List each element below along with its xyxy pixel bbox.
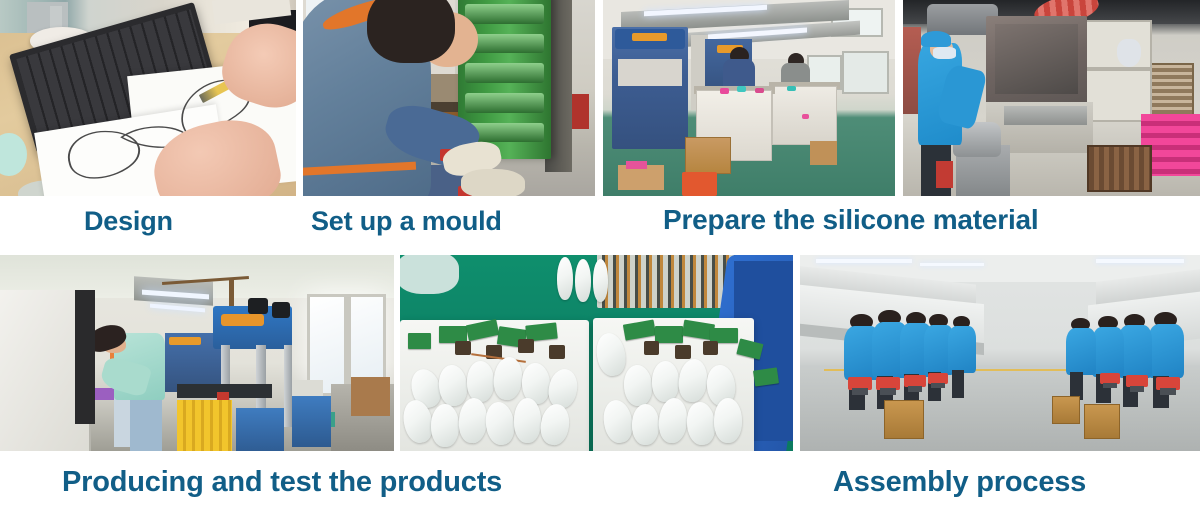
photo-mould[interactable]	[303, 0, 595, 196]
caption-design: Design	[84, 206, 173, 237]
photo-assembly-line[interactable]	[800, 255, 1200, 451]
process-gallery-page: Design Set up a mould Prepare the silico…	[0, 0, 1200, 524]
stool	[928, 373, 948, 385]
photo-producing[interactable]	[0, 255, 394, 451]
photo-silicone-operator[interactable]	[903, 0, 1200, 196]
worker	[1148, 312, 1184, 379]
worker	[1092, 316, 1124, 377]
caption-assembly-process: Assembly process	[833, 466, 1086, 499]
photo-testing-trays[interactable]	[400, 255, 793, 451]
photo-silicone-factory[interactable]	[603, 0, 895, 196]
stool	[1100, 373, 1120, 385]
stool	[876, 377, 900, 391]
worker	[1066, 318, 1096, 375]
stool	[848, 377, 872, 391]
worker	[948, 316, 976, 373]
photo-design[interactable]	[0, 0, 296, 196]
stool	[1156, 377, 1180, 391]
stool	[904, 375, 926, 388]
caption-producing-and-test-the-products: Producing and test the products	[62, 466, 502, 499]
stool	[1126, 375, 1148, 388]
caption-prepare-the-silicone-material: Prepare the silicone material	[663, 204, 1038, 236]
caption-set-up-a-mould: Set up a mould	[311, 206, 502, 237]
